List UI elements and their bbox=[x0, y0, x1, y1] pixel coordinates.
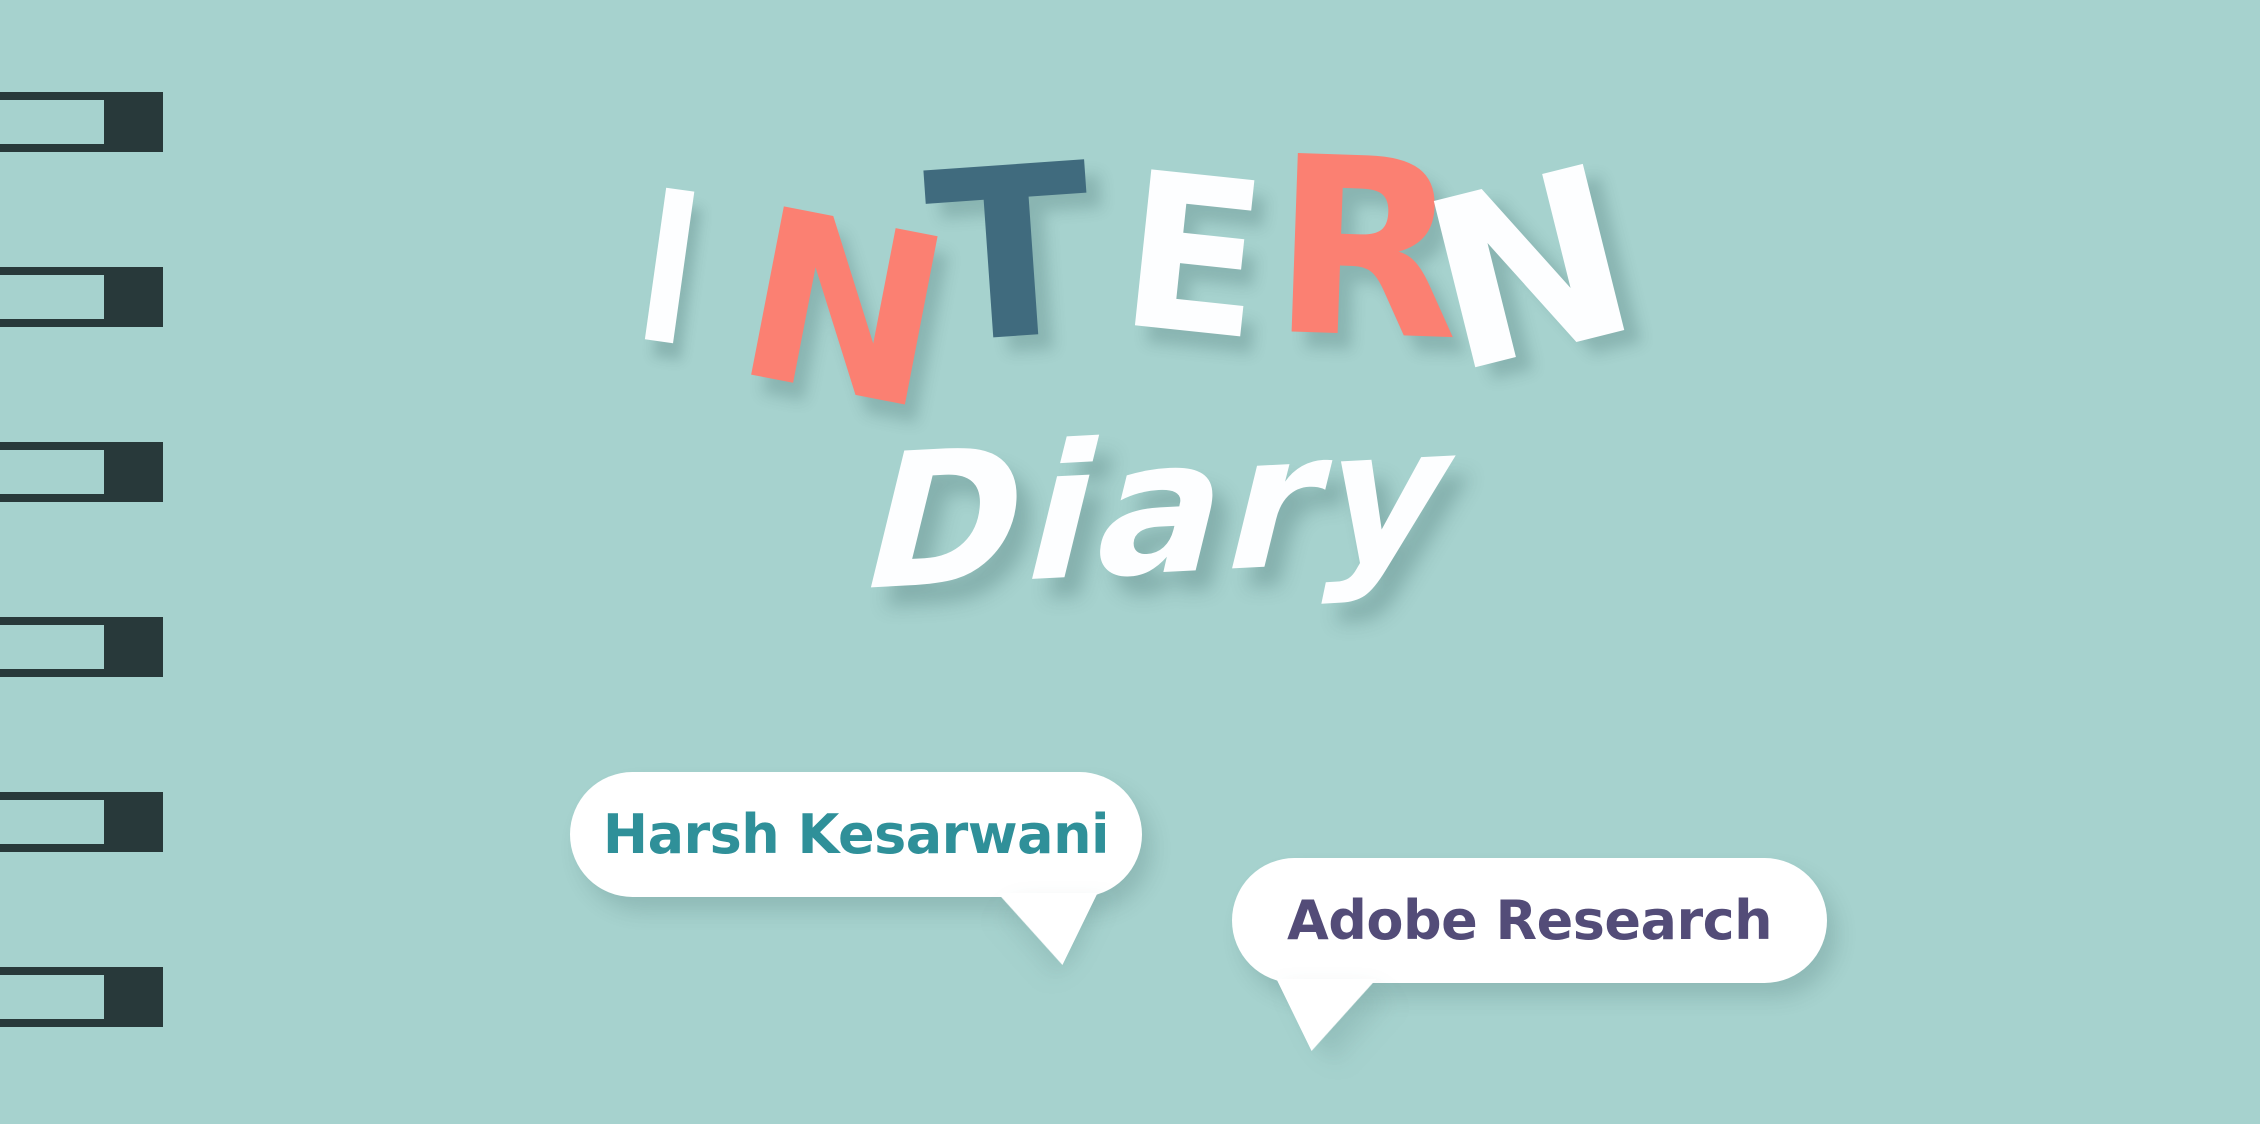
spiral-ring-hole bbox=[0, 800, 104, 844]
spiral-binding bbox=[0, 0, 180, 1124]
spiral-ring-hole bbox=[0, 100, 104, 144]
title-letter-t: T bbox=[921, 145, 1099, 367]
title-intern: I N T E R N bbox=[0, 0, 2260, 460]
speech-bubble-name[interactable]: Harsh Kesarwani bbox=[570, 772, 1142, 897]
spiral-binding-ring bbox=[0, 792, 163, 852]
speech-bubble-name-tail bbox=[962, 893, 1097, 965]
spiral-binding-ring bbox=[0, 442, 163, 502]
slide-canvas: I N T E R N Diary Harsh Kesarwani Adobe … bbox=[0, 0, 2260, 1124]
speech-bubble-org[interactable]: Adobe Research bbox=[1232, 858, 1827, 983]
spiral-binding-ring bbox=[0, 617, 163, 677]
title-diary-script: Diary bbox=[865, 384, 1459, 631]
spiral-ring-hole bbox=[0, 625, 104, 669]
spiral-binding-ring bbox=[0, 92, 163, 152]
title-letter-e: E bbox=[1114, 153, 1273, 360]
spiral-ring-hole bbox=[0, 275, 104, 319]
spiral-ring-hole bbox=[0, 975, 104, 1019]
title-letter-i: I bbox=[628, 172, 710, 367]
speech-bubble-name-label: Harsh Kesarwani bbox=[603, 803, 1109, 866]
spiral-binding-ring bbox=[0, 967, 163, 1027]
speech-bubble-org-label: Adobe Research bbox=[1287, 889, 1772, 952]
spiral-ring-hole bbox=[0, 450, 104, 494]
speech-bubble-org-tail bbox=[1276, 979, 1411, 1051]
spiral-binding-ring bbox=[0, 267, 163, 327]
